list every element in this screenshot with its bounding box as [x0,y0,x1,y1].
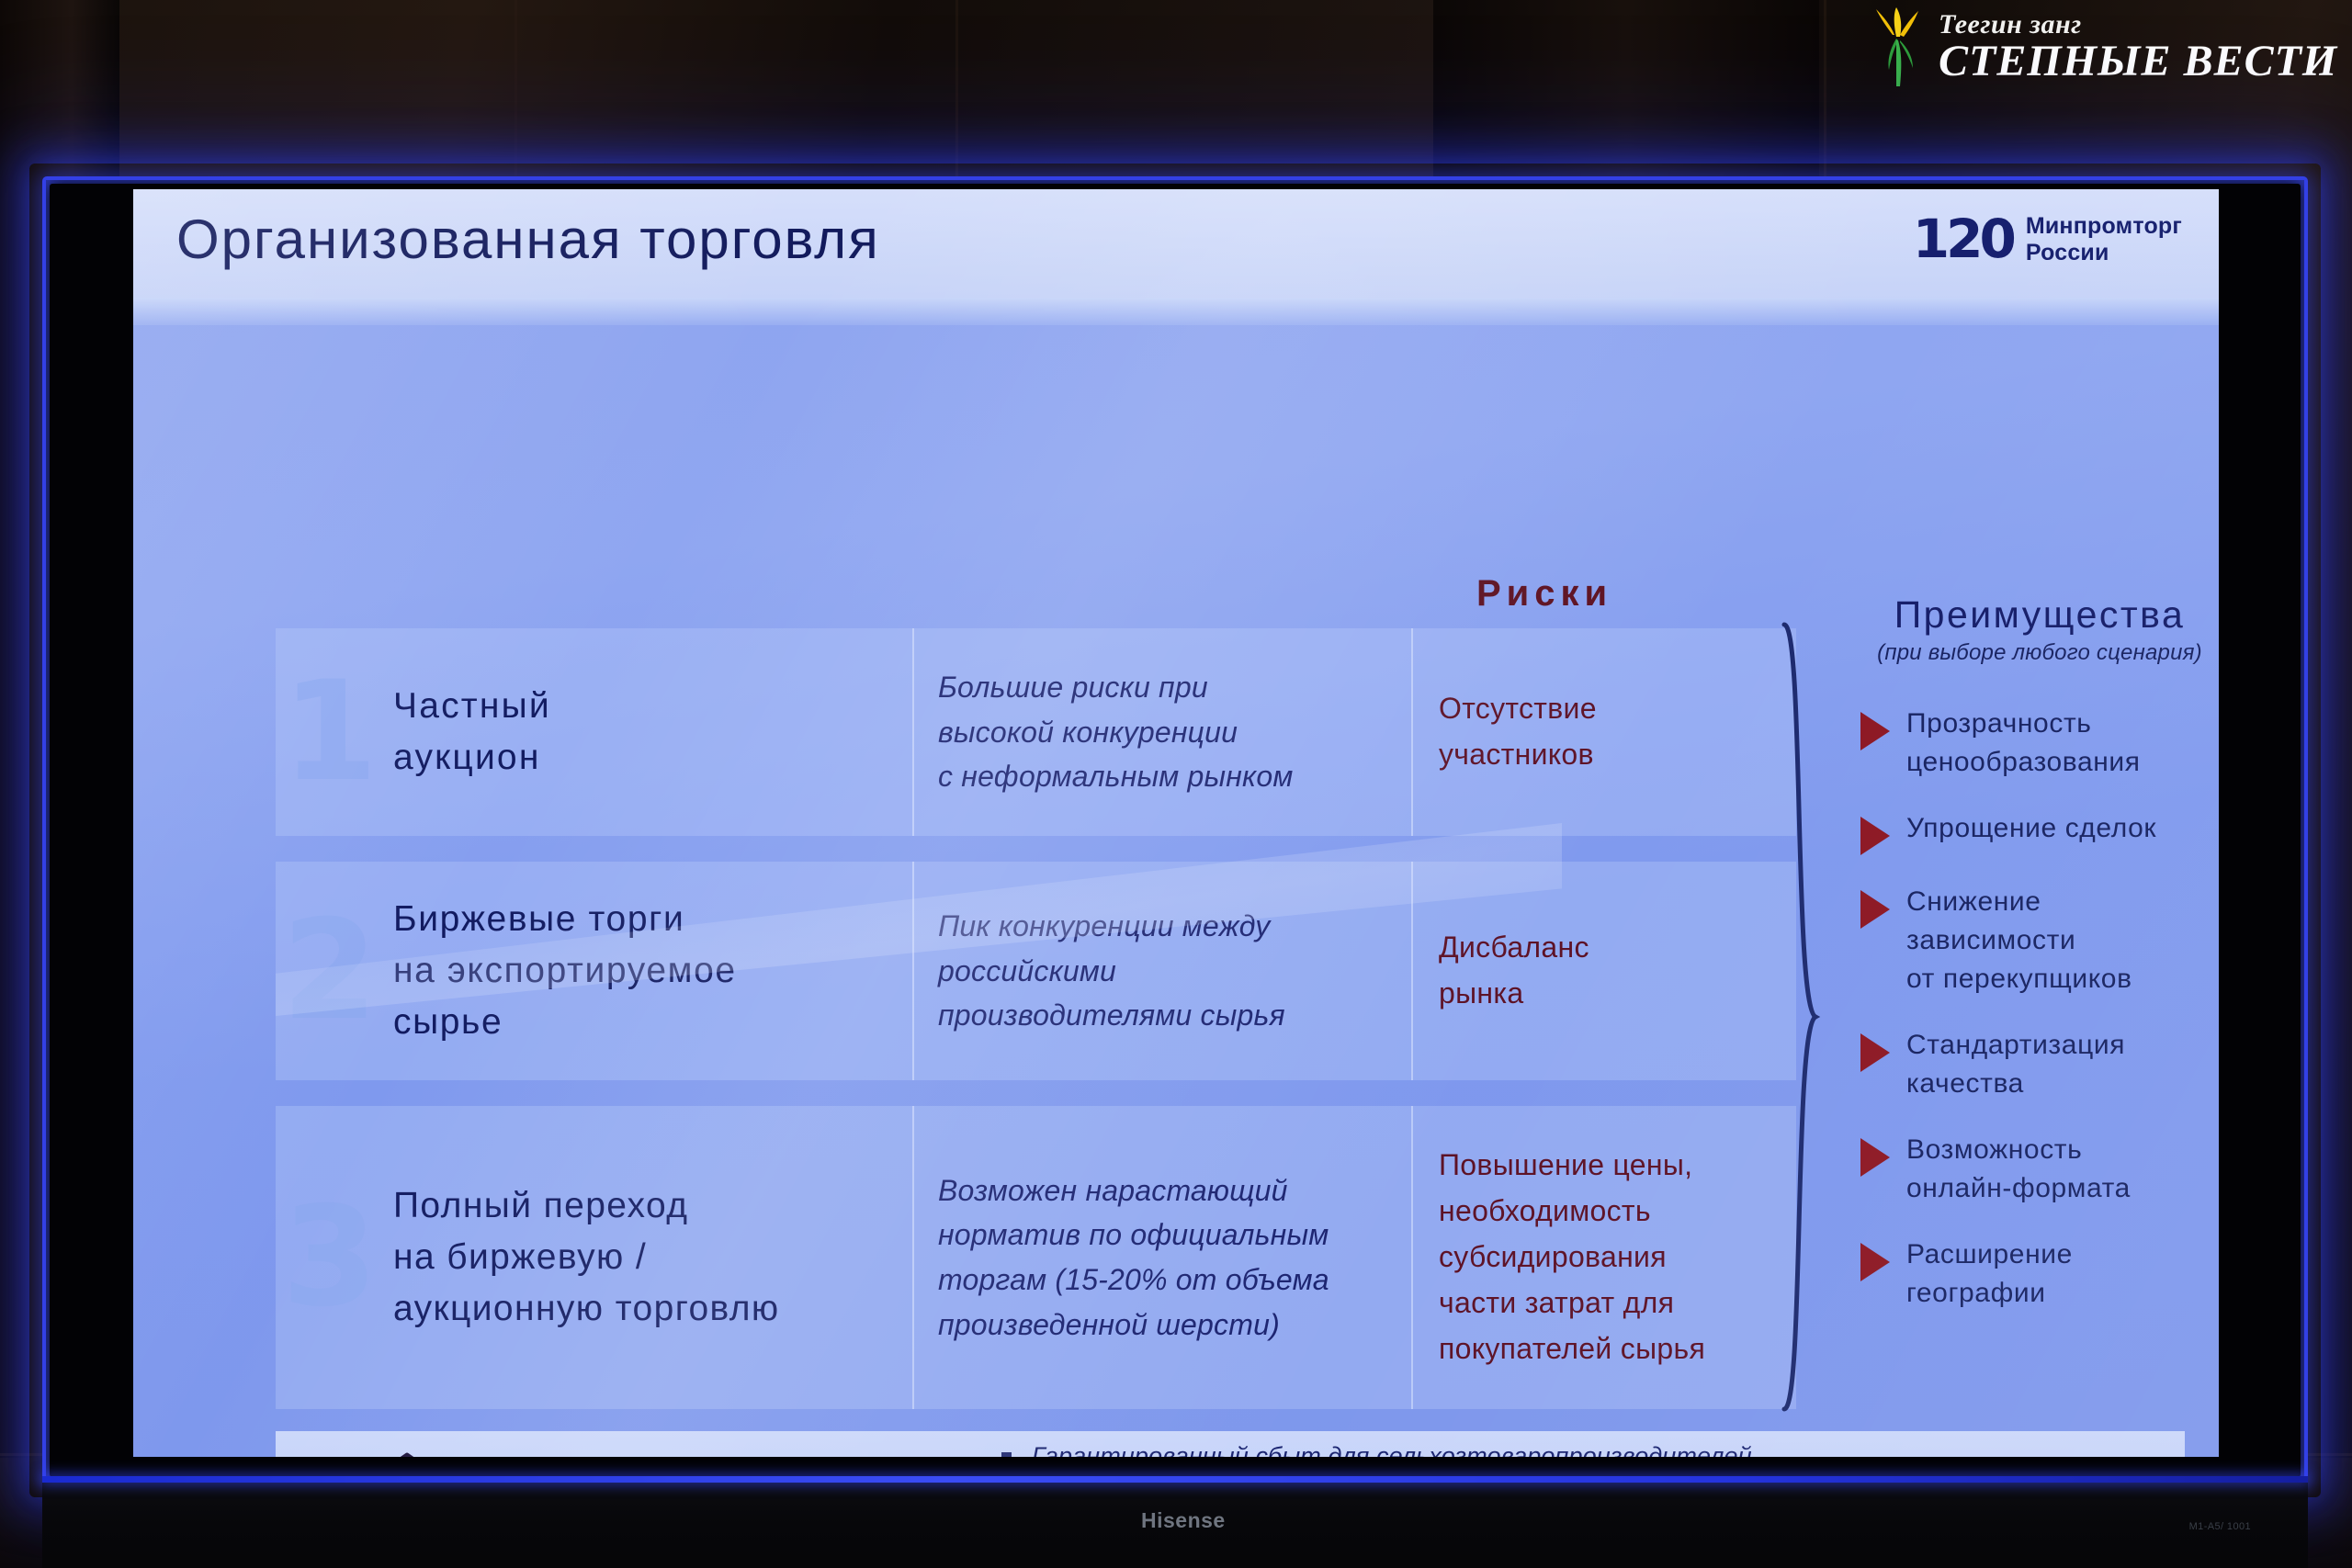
risk-short: Дисбалансрынка [1439,925,1589,1017]
triangle-bullet-icon [1860,890,1890,929]
advantages-subtitle: (при выборе любого сценария) [1860,640,2219,666]
table-row: 1 Частныйаукцион Большие риски привысоко… [276,628,1796,836]
list-item: Возможностьонлайн-формата [1860,1131,2219,1208]
watermark-logo: Теегин зaнг СТЕПНЫЕ ВЕСТИ [1865,4,2343,91]
list-item: Стандартизациякачества [1860,1026,2219,1103]
advantage-label: Возможностьонлайн-формата [1906,1131,2131,1208]
advantages-list: Прозрачностьценообразования Упрощение сд… [1860,705,2219,1313]
advantage-label: Прозрачностьценообразования [1906,705,2141,782]
logo-line1: Минпромторг [2026,213,2182,240]
square-bullet-icon [1001,1452,1012,1457]
risk-detail: Пик конкуренции междуроссийскимипроизвод… [938,904,1285,1038]
advantage-label: Стандартизациякачества [1906,1026,2125,1103]
tulip-icon [1865,7,1933,88]
risk-detail: Возможен нарастающийнорматив по официаль… [938,1168,1329,1348]
advantages-panel: Преимущества (при выборе любого сценария… [1860,593,2219,1340]
benefits-list: Гарантированный сбыт для сельхозтоваропр… [1001,1440,2150,1457]
watermark-line2: СТЕПНЫЕ ВЕСТИ [1939,39,2337,85]
triangle-bullet-icon [1860,1243,1890,1281]
risk-detail: Большие риски привысокой конкуренциис не… [938,665,1294,799]
list-item: Гарантированный сбыт для сельхозтоваропр… [1001,1440,2150,1457]
triangle-bullet-icon [1860,1033,1890,1072]
risk-short-cell: Дисбалансрынка [1411,862,1796,1080]
scenarios-table: 1 Частныйаукцион Большие риски привысоко… [276,628,1796,1409]
list-item: Прозрачностьценообразования [1860,705,2219,782]
benefit-label: Гарантированный сбыт для сельхозтоваропр… [1032,1440,1752,1457]
advantage-label: Расширениегеографии [1906,1235,2073,1313]
tv-display: Организованная торговля 120 Минпромторг … [42,176,2308,1484]
logo-number: 120 [1913,215,2013,263]
scenario-name-cell: Полный переходна биржевую /аукционную то… [384,1106,912,1409]
scenario-name-cell: Биржевые торгина экспортируемоесырье [384,862,912,1080]
risk-detail-cell: Возможен нарастающийнорматив по официаль… [912,1106,1411,1409]
mechanism-application-panel: Применение механизма Гарантированный сбы… [276,1431,2185,1457]
row-number-cell: 1 [276,628,384,836]
scenario-name: Биржевые торгина экспортируемоесырье [393,894,737,1048]
row-number: 2 [282,902,378,1040]
risk-short-cell: Отсутствиеучастников [1411,628,1796,836]
scenario-name-cell: Частныйаукцион [384,628,912,836]
row-number: 3 [282,1189,378,1326]
row-number: 1 [282,663,378,801]
risk-detail-cell: Большие риски привысокой конкуренциис не… [912,628,1411,836]
advantage-label: Упрощение сделок [1906,809,2156,848]
list-item: Упрощение сделок [1860,809,2219,855]
percent-badge-icon [364,1451,450,1457]
scenario-name: Полный переходна биржевую /аукционную то… [393,1180,780,1335]
triangle-bullet-icon [1860,712,1890,750]
row-number-cell: 3 [276,1106,384,1409]
risk-short: Повышение цены,необходимостьсубсидирован… [1439,1143,1705,1372]
slide-header-underband [133,298,2219,325]
table-row: 3 Полный переходна биржевую /аукционную … [276,1106,1796,1409]
tv-accent-light [42,1476,2308,1483]
logo-line2: России [2026,240,2182,266]
tv-brand-label: Hisense [1141,1508,1226,1533]
triangle-bullet-icon [1860,817,1890,855]
list-item: Расширениегеографии [1860,1235,2219,1313]
watermark-line1: Теегин зaнг [1939,11,2337,39]
tv-model-code: M1-A5/ 1001 [2189,1521,2251,1532]
triangle-bullet-icon [1860,1138,1890,1177]
risks-column-header: Риски [1476,573,1612,615]
minpromtorg-logo: 120 Минпромторг России [1913,213,2182,265]
scenario-name: Частныйаукцион [393,681,551,784]
risk-short-cell: Повышение цены,необходимостьсубсидирован… [1411,1106,1796,1409]
list-item: Снижениезависимостиот перекупщиков [1860,883,2219,998]
page-title: Организованная торговля [176,208,880,271]
advantages-title: Преимущества [1860,593,2219,637]
risk-short: Отсутствиеучастников [1439,686,1597,778]
table-row: 2 Биржевые торгина экспортируемоесырье П… [276,862,1796,1080]
advantage-label: Снижениезависимостиот перекупщиков [1906,883,2132,998]
risk-detail-cell: Пик конкуренции междуроссийскимипроизвод… [912,862,1411,1080]
row-number-cell: 2 [276,862,384,1080]
tv-bottom-bezel: Hisense M1-A5/ 1001 [42,1483,2308,1568]
presentation-slide: Организованная торговля 120 Минпромторг … [133,189,2219,1457]
grouping-brace [1781,621,1832,1413]
